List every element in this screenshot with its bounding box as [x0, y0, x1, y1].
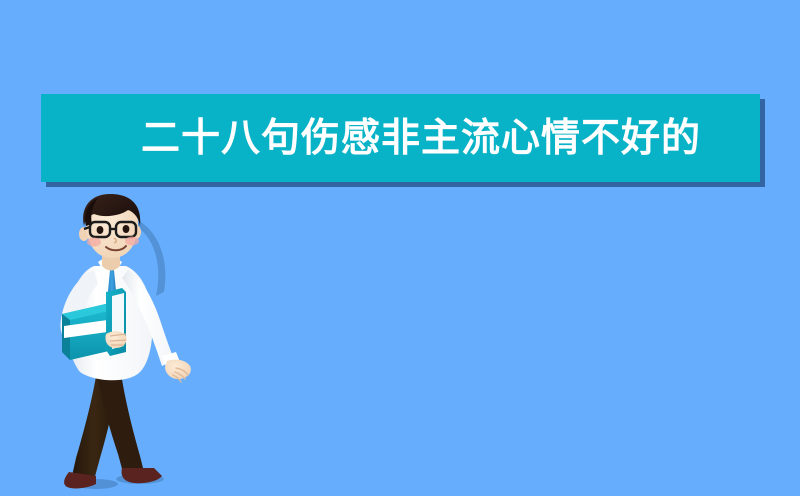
open-hand: [165, 360, 191, 379]
head: [79, 194, 141, 271]
hand-gripping: [105, 331, 126, 348]
illustration-businessman: [36, 196, 206, 492]
page-title: 二十八句伤感非主流心情不好的: [141, 119, 701, 158]
legs: [64, 364, 162, 488]
poster-canvas: 二十八句伤感非主流心情不好的: [0, 0, 800, 496]
title-banner: 二十八句伤感非主流心情不好的: [41, 94, 760, 182]
